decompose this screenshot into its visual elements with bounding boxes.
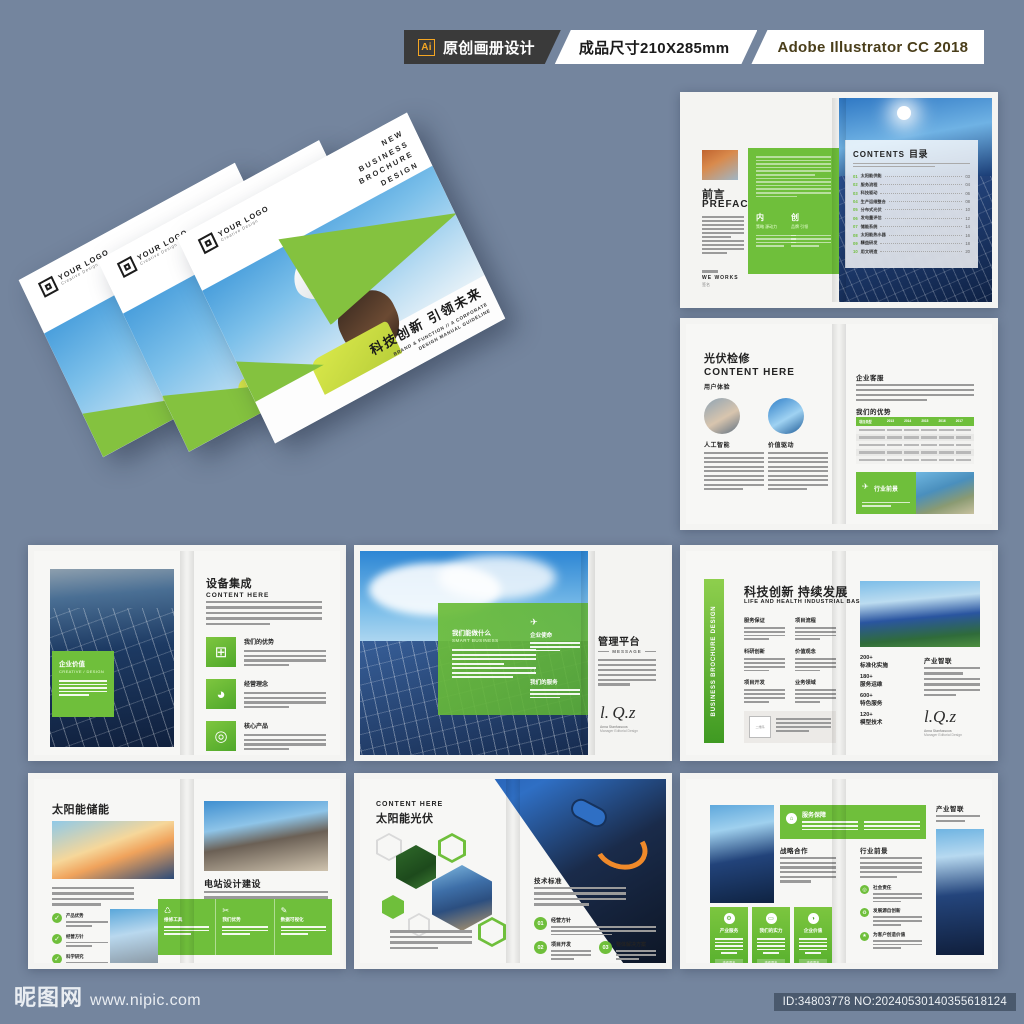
table-cell [904,444,919,447]
spread-storage: 太阳能储能 ✓产品优势✓经营方针✓科学研究 电站设计建设 ♺维修工具✂我们优势✎… [28,773,346,969]
storage-item-icon: ✎ [281,906,326,915]
equipment-card-en: CREATIVE / DESIGN [59,669,114,674]
table-header-cell: 2013 [887,419,902,424]
service-card-label: 我们的实力 [757,928,785,934]
storage-bullet[interactable]: ✓科学研究 [52,954,108,963]
table-cell [939,429,954,432]
innovation-right-h: 产业智联 [924,655,952,665]
contents-item-page: 18 [965,241,970,246]
contents-item[interactable]: 09精益研发18 [853,239,970,247]
service-card-row[interactable]: ⚙产业服务查看更多▭我们的实力查看更多◑企业价值查看更多 [710,907,832,963]
contents-item-page: 06 [965,191,970,196]
contents-item-page: 16 [965,233,970,238]
innovation-stat-label: 服务运维 [860,680,914,688]
chat-icon: ▭ [766,913,777,924]
contents-item-no: 10 [853,249,858,254]
contents-item[interactable]: 08太阳能热水器16 [853,231,970,239]
pv-title-cn: 太阳能光伏 [376,810,443,826]
innovation-stats: 200+标准化实施180+服务运维600+特色服务120+模型技术 [860,655,914,731]
service-h-mid: 行业前景 [860,845,888,855]
service-card[interactable]: ▭我们的实力查看更多 [752,907,790,963]
table-cell [939,451,954,454]
equipment-feature-list[interactable]: ⊞我们的优势◕经营理念◎核心产品 [206,637,326,755]
storage-bullet-label: 经营方针 [66,934,108,940]
pv-numbered-item[interactable]: 01经营方针 [534,917,656,935]
table-cell [921,451,936,454]
service-bullet-list[interactable]: ◎社会责任♻发展源自创新★为客户创造价值 [860,885,922,955]
service-photo-left [710,805,774,903]
service-bullet-icon: ♻ [860,908,869,917]
pv-title-en: CONTENT HERE [376,801,443,808]
equipment-feature-item[interactable]: ⊞我们的优势 [206,637,326,667]
table-header-cell: 2016 [939,419,954,424]
site-name-cn: 昵图网 [14,980,83,1012]
equipment-feature-label: 核心产品 [244,721,326,730]
storage-photo-a [52,821,174,879]
table-cell [887,451,902,454]
inspect-circle-photo-b [768,398,804,434]
preface-sign-en: WE WORKS [702,275,739,281]
innovation-qr-icon: 二维码 [749,716,771,738]
innovation-grid-label: 项目流程 [795,617,836,624]
innovation-grid-item: 项目开发 [744,679,785,702]
spread-equipment: 企业价值 CREATIVE / DESIGN 设备集成 CONTENT HERE [28,545,346,761]
table-cell [921,429,936,432]
contents-item-label: 精益研发 [861,240,878,246]
contents-item[interactable]: 05分布式光伏10 [853,206,970,214]
storage-green-item: ✂我们优势 [215,899,273,955]
service-bullet-icon: ◎ [860,885,869,894]
spread-preface: 前言 PREFACE WE WORKS 签名 [680,92,998,308]
equipment-title-cn: 设备集成 [206,575,269,591]
contents-item[interactable]: 01太阳能供能03 [853,172,970,180]
innovation-grid-item: 项目流程 [795,617,836,640]
storage-green-item: ✎数据可视化 [274,899,332,955]
contents-item-page: 20 [965,249,970,254]
table-cell [859,429,885,432]
innovation-grid-item: 科研创新 [744,648,785,671]
spread-innovation: BUSINESS BROCHURE DESIGN 科技创新 持续发展 LIFE … [680,545,998,761]
service-card-button[interactable]: 查看更多 [799,959,827,963]
contents-item-no: 02 [853,182,858,187]
table-cell [956,444,971,447]
contents-item-label: 发电量评估 [861,215,882,221]
service-h-left: 战略合作 [780,845,808,855]
site-url: www.nipic.com [90,992,201,1012]
service-right-h: 产业智联 [936,803,964,813]
contents-item-label: 生产运维整合 [861,199,886,205]
innovation-grid-item: 服务保证 [744,617,785,640]
inspect-banner-photo [916,472,974,514]
table-cell [859,451,885,454]
cover-mockup-group: YOUR LOGO Creative Design YOUR LOGO [24,80,664,540]
contents-title-en: CONTENTS [853,150,905,159]
preface-green-block: 内 策略 源动力 创 品牌 引领 [748,148,839,274]
innovation-spine-label: BUSINESS BROCHURE DESIGN [711,606,717,717]
pv-hex-photo-a [396,845,436,889]
innovation-grid-item: 价值观念 [795,648,836,671]
table-cell [921,459,936,462]
table-header-cell: 2014 [904,419,919,424]
table-cell [939,459,954,462]
service-banner-label: 服务保障 [802,810,826,819]
innovation-stat: 600+特色服务 [860,693,914,707]
pv-step-label: 项目开发 [551,941,591,948]
storage-bullet[interactable]: ✓经营方针 [52,934,108,948]
contents-item[interactable]: 07储能系统14 [853,223,970,231]
table-cell [921,444,936,447]
table-cell [887,436,902,439]
equipment-feature-item[interactable]: ◕经营理念 [206,679,326,709]
contents-item[interactable]: 06发电量评估12 [853,214,970,222]
service-bullet-label: 为客户创造价值 [873,932,922,938]
contents-item-no: 03 [853,191,858,196]
innovation-stat: 180+服务运维 [860,674,914,688]
storage-item-label: 数据可视化 [281,917,326,923]
storage-photo-b [110,909,158,963]
inspect-right-h1: 企业客服 [856,372,884,382]
table-cell [859,436,885,439]
equipment-feature-label: 经营理念 [244,679,326,688]
contents-item-page: 04 [965,182,970,187]
table-cell [939,444,954,447]
contents-item-page: 12 [965,216,970,221]
people-icon: ◕ [206,679,236,709]
contents-item-page: 10 [965,207,970,212]
innovation-grid-label: 业务领域 [795,679,836,686]
table-header-row: 项目类型20132014201520162017 [856,417,974,426]
inspect-comparison-table: 项目类型20132014201520162017 [856,417,974,464]
contents-list[interactable]: 01太阳能供能0302服务流程0403科技驱动0604生产运维整合0805分布式… [845,167,978,256]
table-cell [859,444,885,447]
table-header-cell: 2015 [921,419,936,424]
spread-inspection: 光伏检修 CONTENT HERE 用户体验 人工智能 价值驱动 企业客服 [680,318,998,530]
contents-item-label: 用文明造 [861,249,878,255]
platform-side-a: 企业使命 [530,631,580,639]
service-card[interactable]: ⚙产业服务查看更多 [710,907,748,963]
innovation-photo [860,581,980,647]
banner-segment-size: 成品尺寸210X285mm [555,30,758,64]
innovation-grid-item: 业务领域 [795,679,836,702]
headset-icon: ◑ [808,913,819,924]
preface-col-b-title: 创 [791,212,831,223]
contents-item[interactable]: 03科技驱动06 [853,189,970,197]
service-card-label: 产业服务 [715,928,743,934]
contents-item-label: 服务流程 [861,182,878,188]
platform-panel-en: SMART BUSINESS [452,638,536,643]
contents-item-no: 04 [853,199,858,204]
contents-photo: CONTENTS 目录 01太阳能供能0302服务流程0403科技驱动0604生… [839,98,992,302]
storage-right-cn: 电站设计建设 [204,877,261,890]
check-icon: ✓ [52,913,62,923]
equipment-feature-item[interactable]: ◎核心产品 [206,721,326,751]
innovation-stat-label: 特色服务 [860,699,914,707]
contents-item-label: 储能系统 [861,224,878,230]
service-bullet[interactable]: ★为客户创造价值 [860,932,922,949]
target-icon: ◎ [206,721,236,751]
contents-item-label: 分布式光伏 [861,207,882,213]
top-info-banner: Ai 原创画册设计 成品尺寸210X285mm Adobe Illustrato… [404,30,984,64]
service-green-banner: ⌂ 服务保障 [780,805,926,839]
innovation-stat-label: 标准化实施 [860,661,914,669]
service-bullet-label: 社会责任 [873,885,922,891]
inspect-title-cn: 光伏检修 [704,350,795,366]
sun-glow [897,106,911,120]
table-cell [921,436,936,439]
asset-id-badge: ID:34803778 NO:20240530140355618124 [774,993,1016,1011]
contents-item-no: 08 [853,233,858,238]
pv-numbered-item[interactable]: 02项目开发 [534,941,591,959]
contents-item-no: 06 [853,216,858,221]
equipment-photo: 企业价值 CREATIVE / DESIGN [50,569,174,747]
innovation-title-en: LIFE AND HEALTH INDUSTRIAL BASE [744,599,864,605]
banner-type-label: 原创画册设计 [443,37,535,58]
table-cell [887,459,902,462]
pv-step-label: 经营方针 [551,917,656,924]
storage-item-label: 我们优势 [222,917,267,923]
table-cell [887,429,902,432]
contents-item[interactable]: 10用文明造20 [853,248,970,256]
storage-bullet[interactable]: ✓产品优势 [52,913,108,927]
contents-item[interactable]: 02服务流程04 [853,181,970,189]
innovation-feature-grid: 服务保证项目流程科研创新价值观念项目开发业务领域 [744,617,836,703]
contents-item-no: 01 [853,174,858,179]
innovation-grid-label: 项目开发 [744,679,785,686]
inspect-title-en: CONTENT HERE [704,367,795,378]
innovation-grid-label: 科研创新 [744,648,785,655]
platform-panel-cn: 我们能做什么 [452,627,536,637]
storage-bullet-list[interactable]: ✓产品优势✓经营方针✓科学研究 [52,913,108,963]
service-card-button[interactable]: 查看更多 [715,959,743,963]
contents-item-page: 14 [965,224,970,229]
inspect-right-h2: 我们的优势 [856,406,891,416]
illustrator-icon: Ai [418,39,435,56]
equipment-value-card: 企业价值 CREATIVE / DESIGN [52,651,114,717]
contents-item-page: 08 [965,199,970,204]
table-cell [939,436,954,439]
preface-body-text [702,216,744,254]
contents-item[interactable]: 04生产运维整合08 [853,197,970,205]
poster-canvas: Ai 原创画册设计 成品尺寸210X285mm Adobe Illustrato… [0,0,1024,1024]
pv-step-number: 03 [599,941,612,954]
contents-item-label: 太阳能热水器 [861,232,886,238]
pv-hex-solid [382,895,404,919]
chat-icon: ◌ [530,665,580,675]
platform-right-en: MESSAGE [612,649,642,654]
spread-service: ⌂ 服务保障 战略合作 行业前景 [680,773,998,969]
service-card[interactable]: ◑企业价值查看更多 [794,907,832,963]
platform-right-cn: 管理平台 [598,633,640,648]
service-bullet-icon: ★ [860,932,869,941]
service-card-button[interactable]: 查看更多 [757,959,785,963]
storage-photo-c [204,801,328,871]
contents-card: CONTENTS 目录 01太阳能供能0302服务流程0403科技驱动0604生… [845,140,978,268]
platform-signature: l. Q.z [600,703,638,723]
banner-segment-type: Ai 原创画册设计 [404,30,561,64]
storage-bullet-label: 科学研究 [66,954,108,960]
pv-step-number: 02 [534,941,547,954]
service-card-label: 企业价值 [799,928,827,934]
table-cell [904,436,919,439]
contents-item-no: 05 [853,207,858,212]
inspect-green-banner: ✈ 行业前景 [856,472,916,514]
innovation-spine: BUSINESS BROCHURE DESIGN [704,579,724,743]
pv-right-h: 技术标准 [534,875,562,885]
contents-item-label: 太阳能供能 [861,173,882,179]
check-icon: ✓ [52,934,62,944]
table-cell [904,451,919,454]
platform-side-b: 我们的服务 [530,678,580,686]
innovation-stat-label: 模型技术 [860,718,914,726]
pv-numbered-item[interactable]: 03整体解决方案 [599,941,656,959]
table-cell [887,444,902,447]
innovation-footer-box: 二维码 [744,711,836,743]
table-row [856,441,974,449]
contents-item-no: 09 [853,241,858,246]
table-cell [859,459,885,462]
innovation-sig-role: Manager Editorial Design [924,733,962,737]
service-bullet-label: 发展源自创新 [873,908,922,914]
service-bullet[interactable]: ♻发展源自创新 [860,908,922,925]
table-header-cell: 项目类型 [859,419,885,424]
innovation-grid-label: 服务保证 [744,617,785,624]
table-row [856,456,974,464]
table-cell [956,459,971,462]
equipment-card-cn: 企业价值 [59,658,114,668]
send-icon: ✈ [530,617,580,628]
table-row [856,449,974,457]
gear-icon: ⚙ [724,913,735,924]
pv-step-label: 整体解决方案 [616,941,656,948]
equipment-title-en: CONTENT HERE [206,592,269,599]
innovation-signature: l.Q.z [924,707,962,727]
inspect-banner-label: 行业前景 [874,484,898,493]
contents-item-page: 03 [965,174,970,179]
service-bullet[interactable]: ◎社会责任 [860,885,922,902]
table-cell [904,429,919,432]
platform-green-overlay: 我们能做什么 SMART BUSINESS ✈ 企业使命 [438,603,594,715]
table-cell [956,436,971,439]
pv-hex-photo-b [432,865,492,931]
table-cell [956,451,971,454]
preface-sign-cn: 签名 [702,282,739,288]
table-row [856,426,974,434]
table-row [856,434,974,442]
inspect-circle-photo-a [704,398,740,434]
innovation-grid-label: 价值观念 [795,648,836,655]
pv-numbered-list[interactable]: 01经营方针02项目开发03整体解决方案 [534,917,656,960]
service-photo-right [936,829,984,955]
spread-platform: 我们能做什么 SMART BUSINESS ✈ 企业使命 [354,545,672,761]
home-icon: ⌂ [786,813,797,824]
storage-bullet-label: 产品优势 [66,913,108,919]
network-icon: ⊞ [206,637,236,667]
inspect-circle-label-b: 价值驱动 [768,440,794,449]
equipment-feature-label: 我们的优势 [244,637,326,646]
banner-segment-software: Adobe Illustrator CC 2018 [751,30,984,64]
inspect-subtitle: 用户体验 [704,382,730,391]
contents-item-no: 07 [853,224,858,229]
storage-item-icon: ✂ [222,906,267,915]
check-icon: ✓ [52,954,62,963]
table-header-cell: 2017 [956,419,971,424]
spread-pv: CONTENT HERE 太阳能光伏 技术标准 01经营方 [354,773,672,969]
preface-col-b-sub: 品牌 引领 [791,224,831,230]
preface-thumbnail [702,150,738,180]
table-cell [956,429,971,432]
table-cell [904,459,919,462]
site-watermark: 昵图网 www.nipic.com [14,980,201,1012]
contents-item-label: 科技驱动 [861,190,878,196]
contents-title-cn: 目录 [909,147,928,160]
platform-sig-role: Manager Editorial Design [600,729,638,733]
innovation-stat: 120+模型技术 [860,712,914,726]
innovation-stat: 200+标准化实施 [860,655,914,669]
pv-step-number: 01 [534,917,547,930]
storage-title-cn: 太阳能储能 [52,801,110,817]
inspect-circle-label-a: 人工智能 [704,440,730,449]
